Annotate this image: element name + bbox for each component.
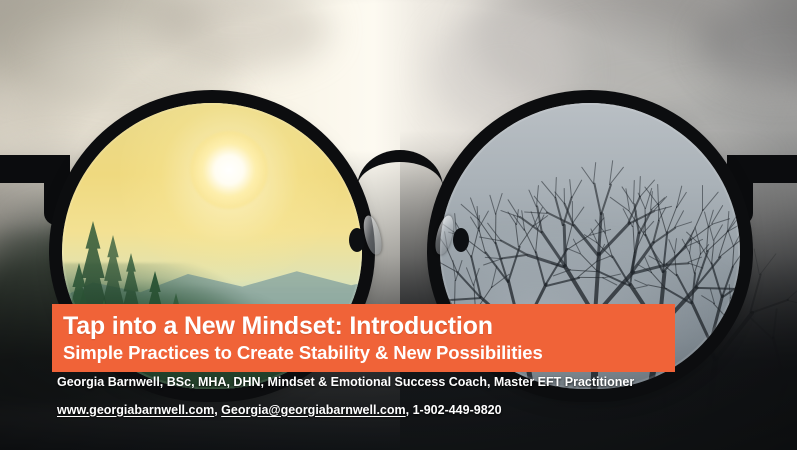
tree-branch (569, 269, 598, 272)
tree-branch (523, 229, 535, 253)
tree-branch (563, 188, 564, 204)
glasses-bridge (357, 150, 443, 188)
nose-pad-arm-left (349, 228, 365, 252)
tree-branch (600, 183, 612, 215)
tree-branch (440, 293, 444, 300)
tree-branch (500, 239, 528, 255)
tree-branch (593, 162, 596, 184)
presentation-slide: Tap into a New Mindset: Introduction Sim… (0, 0, 797, 450)
tree-branch (674, 238, 677, 253)
tree-branch (507, 245, 521, 282)
tree-branch (690, 301, 712, 344)
tree-branch (711, 240, 715, 264)
tree-branch (535, 228, 539, 253)
tree-branch (728, 297, 731, 319)
slide-title: Tap into a New Mindset: Introduction (63, 313, 675, 339)
tree-branch (571, 179, 582, 198)
presenter-credentials: Georgia Barnwell, BSc, MHA, DHN, Mindset… (57, 376, 757, 389)
contact-details: www.georgiabarnwell.com, Georgia@georgia… (57, 404, 757, 417)
nose-pad-left (360, 214, 384, 256)
contact-block: Georgia Barnwell, BSc, MHA, DHN, Mindset… (57, 376, 757, 416)
tree-branch (703, 191, 720, 211)
sun-icon (190, 131, 268, 209)
tree-branch (524, 211, 547, 214)
contact-separator: , (406, 403, 413, 417)
phone-number: 1-902-449-9820 (413, 403, 502, 417)
tree-branch (581, 167, 594, 184)
tree-branch (572, 206, 584, 223)
tree-branch (536, 185, 539, 207)
tree-branch (593, 182, 601, 215)
slide-subtitle: Simple Practices to Create Stability & N… (63, 343, 675, 362)
tree-branch (645, 208, 647, 236)
tree-branch (710, 262, 722, 298)
email-link[interactable]: Georgia@georgiabarnwell.com (221, 403, 405, 417)
tree-branch (737, 313, 740, 352)
tree-branch (597, 221, 631, 256)
tree-branch (634, 279, 648, 286)
website-link[interactable]: www.georgiabarnwell.com (57, 403, 214, 417)
tree-branch (541, 181, 556, 199)
tree-branch (633, 180, 635, 204)
nose-pad-arm-right (453, 228, 469, 252)
tree-branch (534, 251, 545, 286)
title-banner: Tap into a New Mindset: Introduction Sim… (52, 304, 675, 372)
tree-branch (702, 185, 703, 211)
tree-branch (657, 184, 659, 205)
tree-branch (578, 277, 604, 278)
